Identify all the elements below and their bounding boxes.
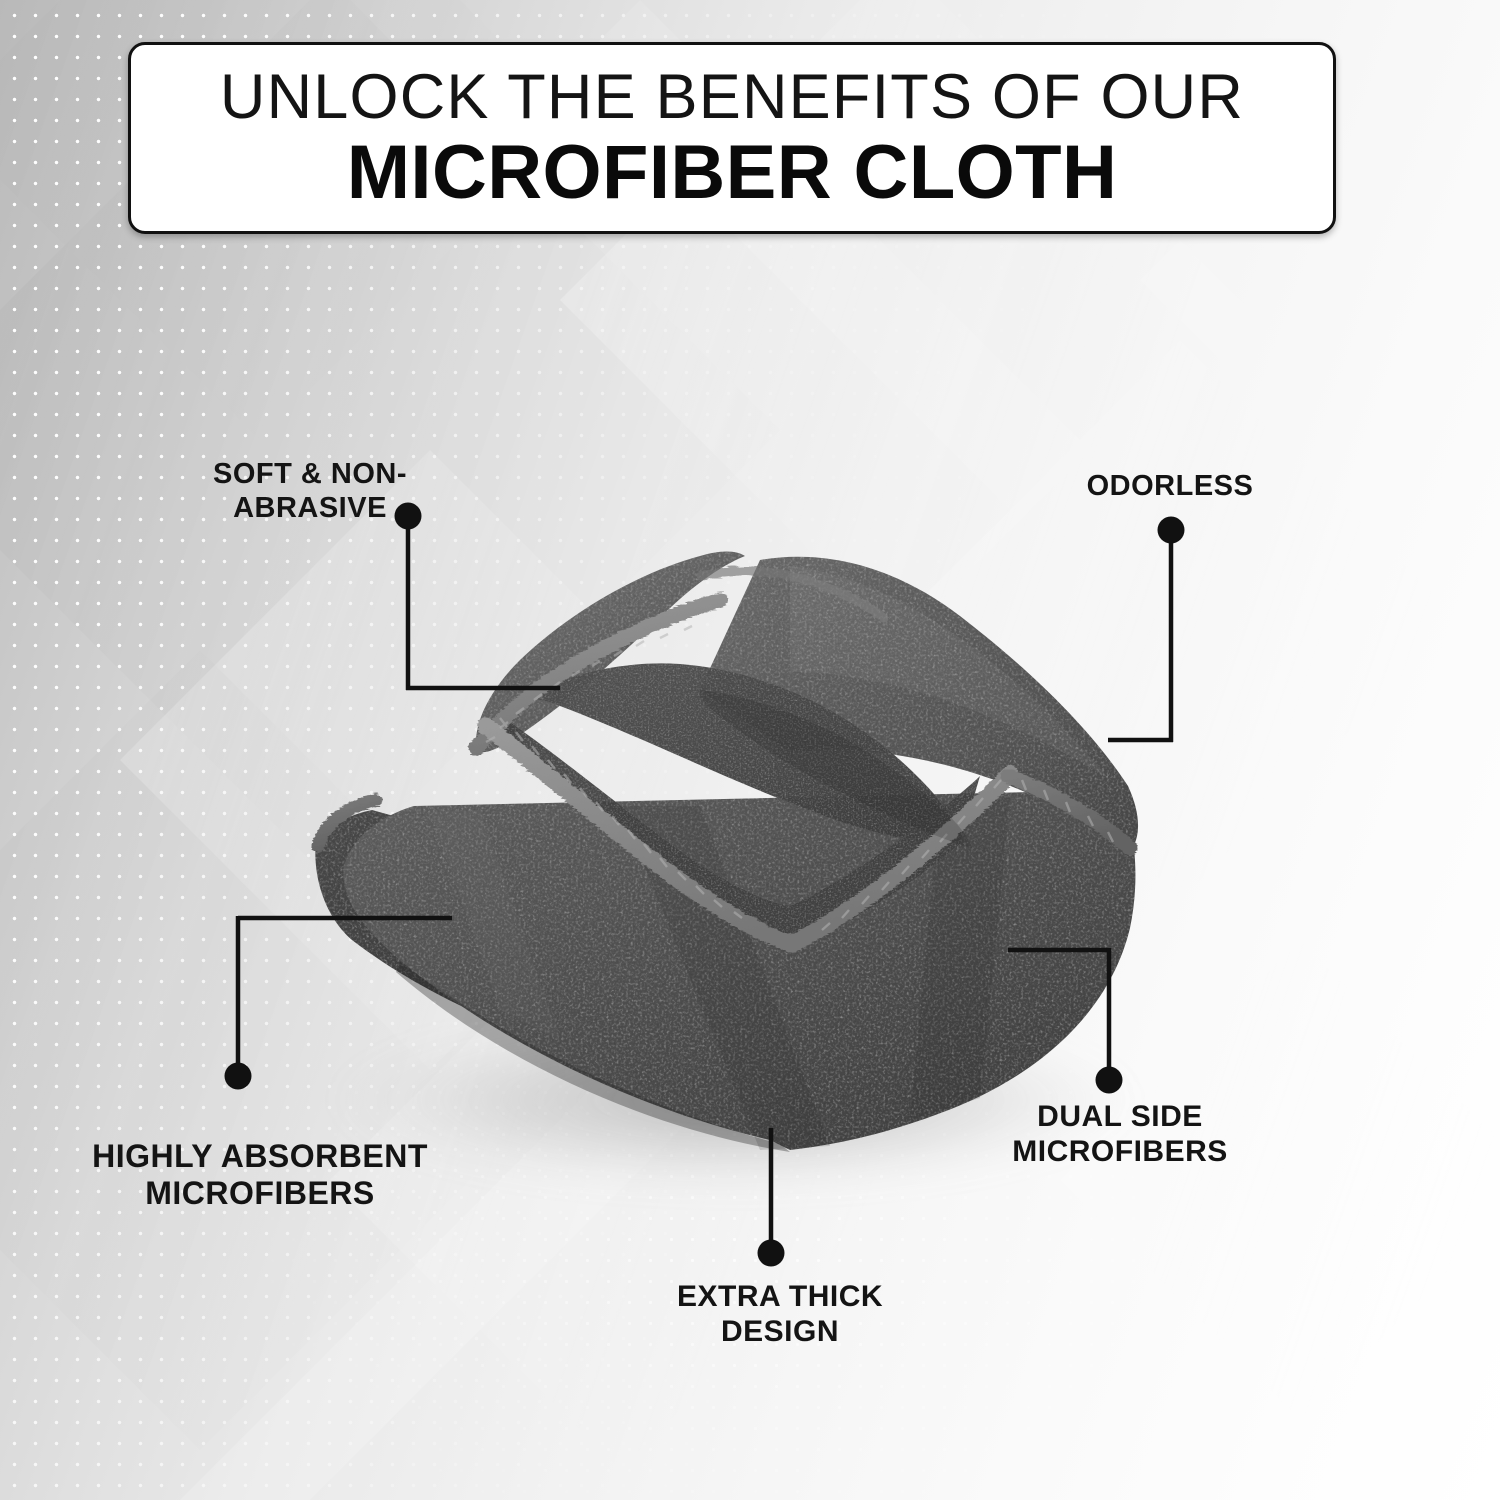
callout-label-odorless: ODORLESS — [1030, 470, 1310, 504]
callout-label-dual-side: DUAL SIDE MICROFIBERS — [985, 1100, 1255, 1170]
connector-absorbent — [238, 916, 452, 1076]
callout-dot-dual — [1096, 1067, 1123, 1094]
callout-label-highly-absorbent: HIGHLY ABSORBENT MICROFIBERS — [50, 1138, 470, 1212]
connector-odorless — [1108, 530, 1173, 742]
connector-dual — [1008, 948, 1109, 1080]
title-line-2: MICROFIBER CLOTH — [347, 135, 1118, 211]
callout-dot-extra — [758, 1240, 785, 1267]
title-line-1: UNLOCK THE BENEFITS OF OUR — [220, 65, 1244, 129]
title-banner: UNLOCK THE BENEFITS OF OUR MICROFIBER CL… — [128, 42, 1336, 234]
callout-label-extra-thick: EXTRA THICK DESIGN — [630, 1280, 930, 1350]
infographic-canvas: UNLOCK THE BENEFITS OF OUR MICROFIBER CL… — [0, 0, 1500, 1500]
callout-label-soft-non-abrasive: SOFT & NON- ABRASIVE — [190, 458, 430, 525]
connector-soft — [406, 516, 560, 690]
callout-dot-absorbent — [225, 1063, 252, 1090]
callout-dot-odorless — [1158, 517, 1185, 544]
